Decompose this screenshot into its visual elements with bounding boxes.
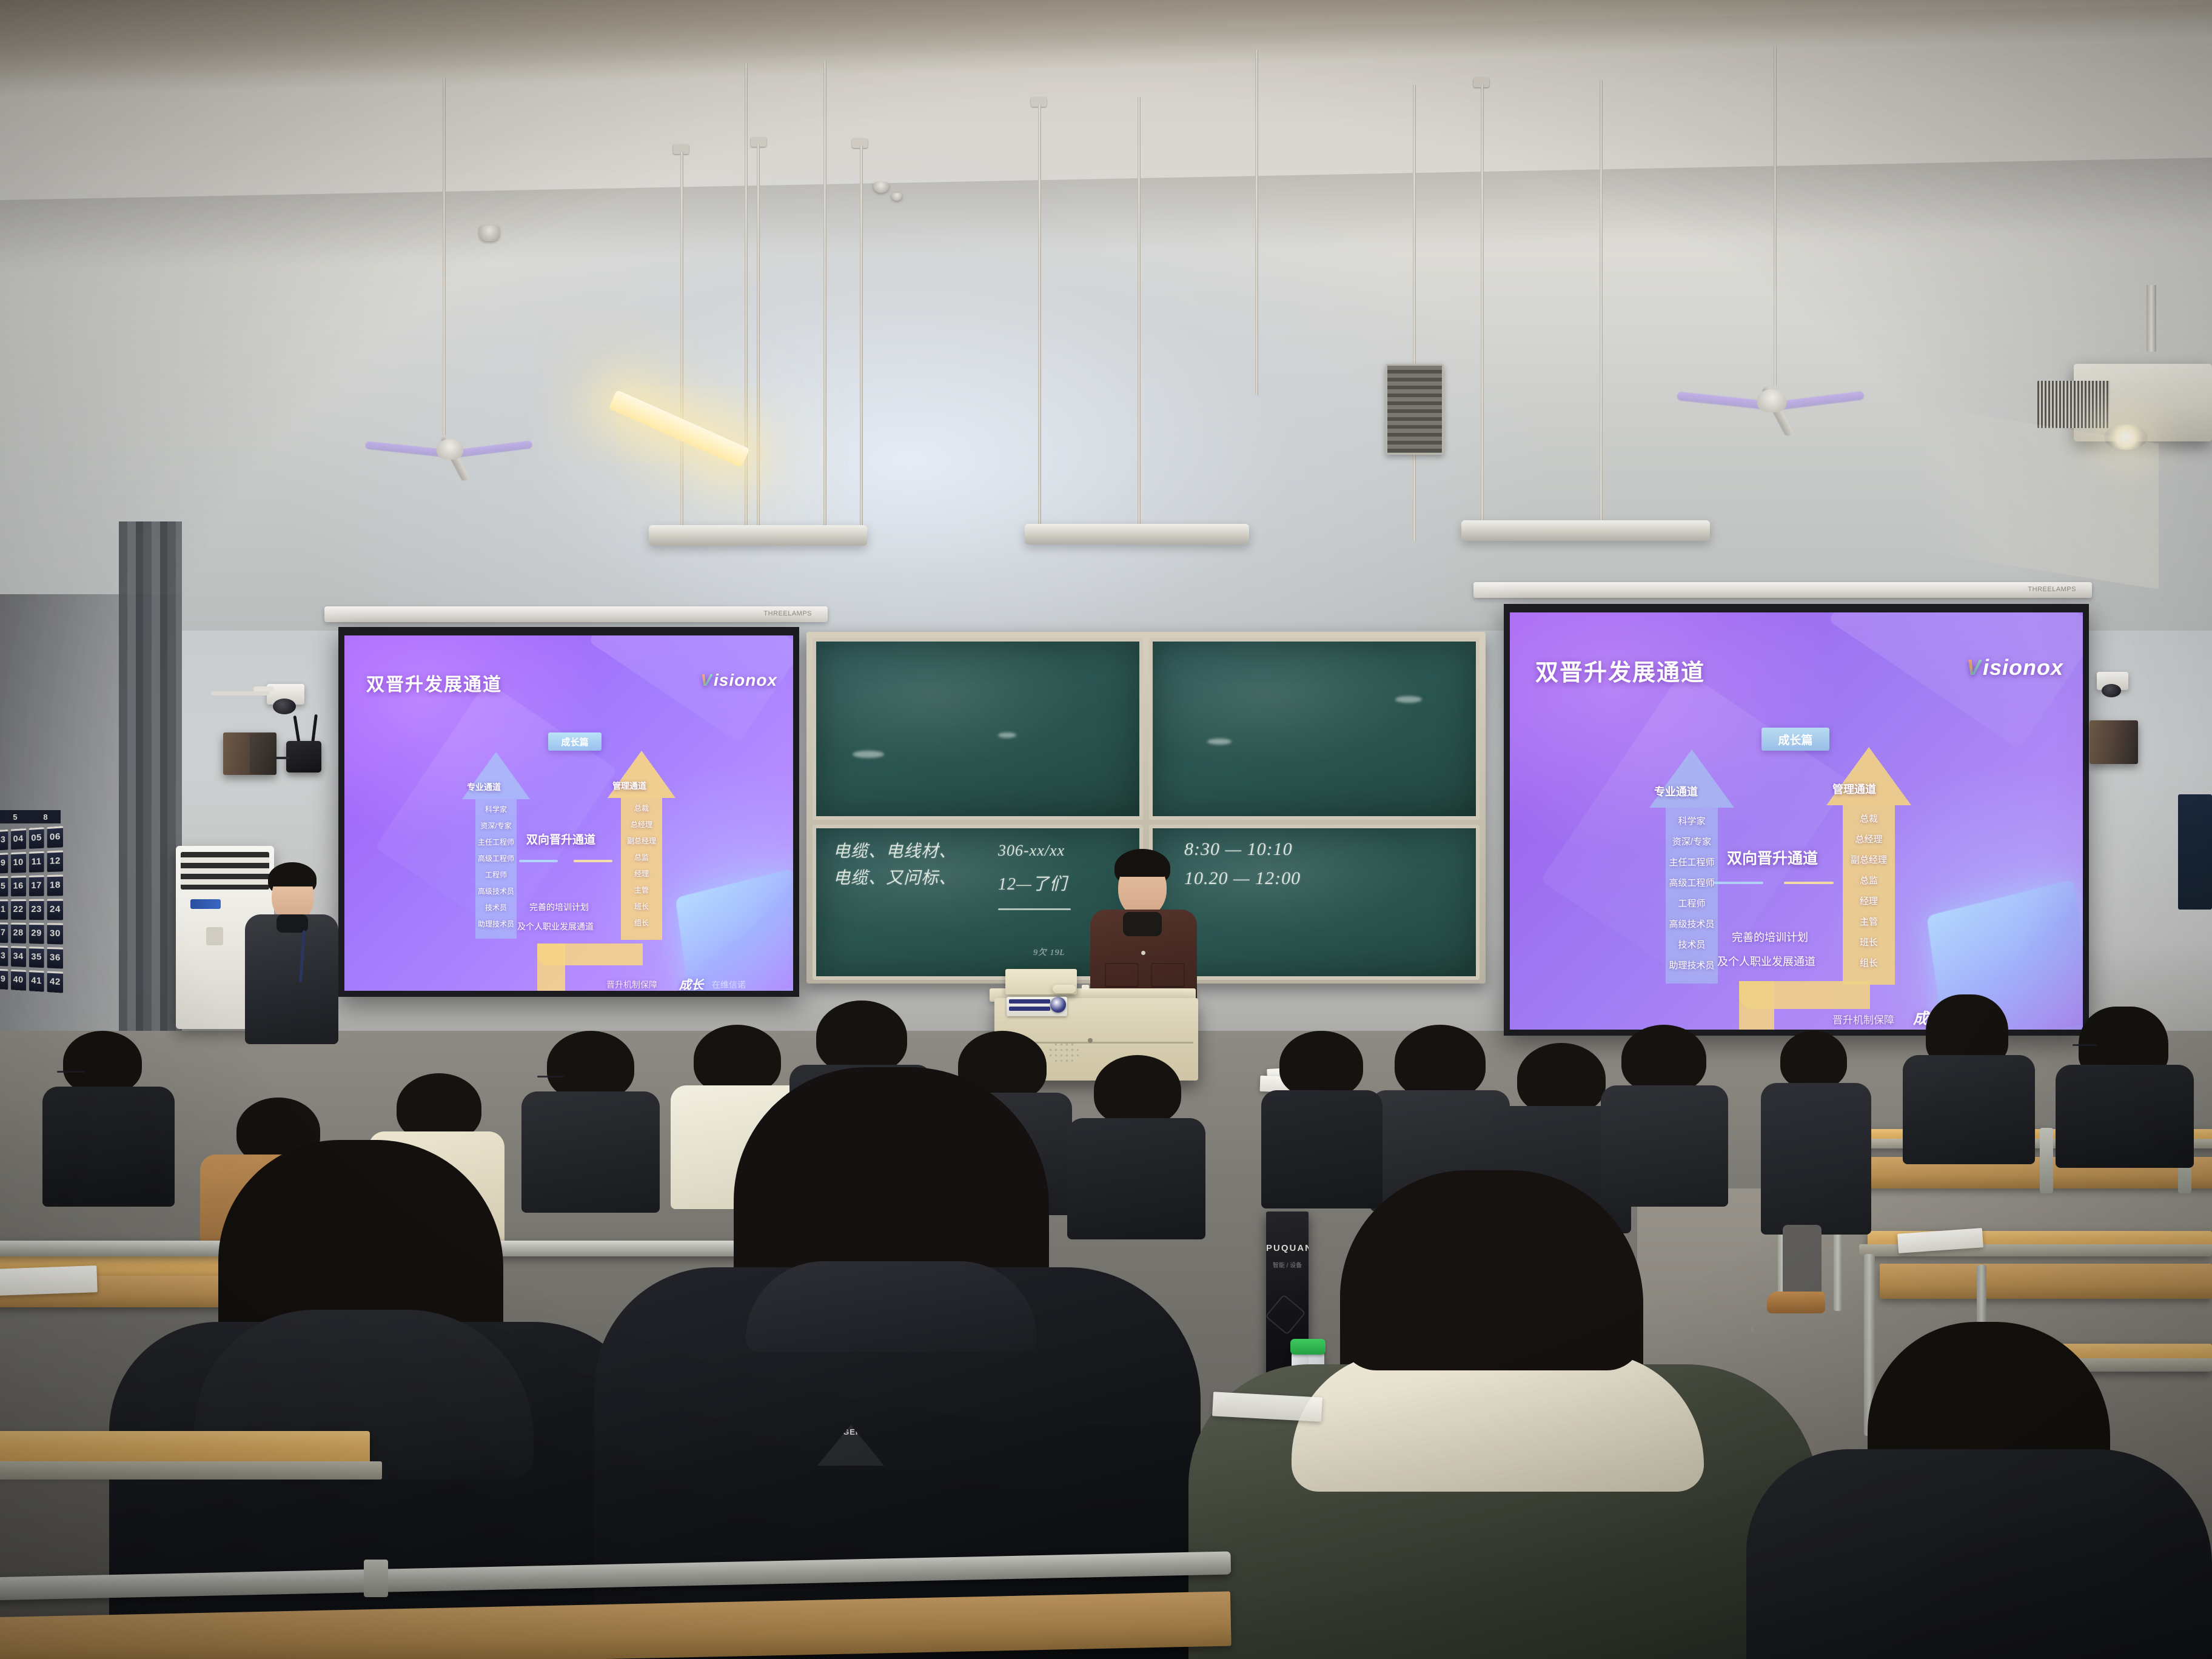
track-rung: 经理: [1860, 891, 1878, 912]
growth-chapter-badge: 成长篇: [1761, 728, 1829, 751]
light-rod: [823, 61, 826, 540]
pocket-slot: 28: [11, 923, 26, 943]
audience-hair: [816, 1000, 907, 1073]
screen-brand-label: THREELAMPS: [763, 610, 812, 617]
track-rung: 主管: [1860, 912, 1878, 933]
pocket-slot: 22: [11, 899, 26, 920]
audience-right-b: [2056, 1007, 2195, 1158]
professional-track-label: 专业通道: [1654, 783, 1698, 799]
training-plan-line-2: 及个人职业发展通道: [1717, 953, 1815, 969]
track-rung: 资深/专家: [480, 818, 511, 834]
track-rung: 工程师: [1678, 894, 1705, 914]
logo-v-letter: V: [700, 671, 712, 690]
staff-member-standing-left: [243, 862, 340, 1044]
left-screen-surface: 双晋升发展通道 Visionox 成长篇 科学家 资深/专家 主任工程师 高级工…: [344, 635, 793, 991]
arrow-body-yellow: 总裁 总经理 副总经理 总监 经理 主管 班长 组长: [1843, 805, 1895, 985]
slide-left: 双晋升发展通道 Visionox 成长篇 科学家 资深/专家 主任工程师 高级工…: [344, 635, 793, 991]
management-track-label: 管理通道: [612, 780, 646, 792]
track-rung: 高级技术员: [1669, 914, 1714, 935]
podium-knob: [1088, 1038, 1093, 1043]
light-rod: [1138, 97, 1141, 528]
left-projection-screen[interactable]: 双晋升发展通道 Visionox 成长篇 科学家 资深/专家 主任工程师 高级工…: [338, 627, 799, 997]
pocket-slot: 09: [0, 853, 8, 873]
pocket-slot: 18: [47, 874, 63, 896]
track-rung: 总监: [1860, 871, 1878, 891]
track-rung: 组长: [634, 915, 649, 931]
track-rung: 助理技术员: [478, 916, 514, 933]
track-rung: 总经理: [631, 817, 652, 833]
audience-hair: [1780, 1031, 1847, 1089]
right-screen-housing[interactable]: THREELAMPS: [1473, 582, 2092, 598]
pocket-slot: 03: [0, 829, 8, 851]
camera-dome: [273, 699, 296, 714]
foreground-student-far-right: [1746, 1322, 2212, 1659]
training-plan-line-1: 完善的培训计划: [1732, 929, 1808, 945]
conduit: [211, 691, 269, 695]
bench-backrest: [1880, 1264, 2212, 1299]
right-wall-camera: [2097, 672, 2128, 690]
audience-hair: [1926, 994, 2008, 1065]
blackboard-schedule-line-2: 10.20 — 12:00: [1184, 868, 1301, 889]
pocket-slot: 15: [0, 876, 8, 897]
track-rung: 副总经理: [1851, 850, 1887, 871]
presenter-collar: [1123, 912, 1162, 936]
desk-paper-sheet: [0, 1265, 98, 1296]
left-screen-housing[interactable]: THREELAMPS: [324, 606, 828, 622]
ceiling-fan-left: [370, 428, 528, 471]
dual-track-heading: 双向晋升通道: [526, 831, 595, 847]
audience-hair: [1395, 1025, 1486, 1099]
training-plan-line-2: 及个人职业发展通道: [517, 920, 594, 933]
visionox-logo: Visionox: [700, 671, 777, 690]
track-rung: 班长: [1860, 933, 1878, 953]
ceiling-fan-right: [1682, 377, 1858, 424]
chalk-smudge: [998, 732, 1016, 738]
track-rung: 主管: [634, 882, 649, 899]
pocket-slot: 05: [28, 827, 44, 849]
wireless-access-point: [286, 741, 321, 773]
camera-dome: [2102, 684, 2121, 697]
eyeglasses-icon: [57, 1071, 85, 1073]
audience-jacket: [2056, 1065, 2194, 1168]
blackboard-room-code: 306-xx/xx: [998, 842, 1065, 860]
air-conditioner-display: [206, 927, 223, 945]
staff-hair-front: [269, 868, 317, 886]
light-rod: [757, 144, 760, 540]
pocket-slot: 27: [0, 922, 8, 943]
slide-footer-lead: 晋升机制保障: [1832, 1011, 1894, 1027]
pocket-slot: 23: [28, 899, 44, 920]
pocket-slot: 21: [0, 899, 8, 919]
management-track-label: 管理通道: [1832, 781, 1876, 797]
speaker-face: [250, 734, 276, 774]
fan-blade: [1677, 392, 1764, 409]
screen-brand-label: THREELAMPS: [2028, 586, 2076, 593]
fluorescent-fixture: [649, 525, 867, 546]
podium-control-dial[interactable]: [1050, 997, 1066, 1013]
upper-wall: [0, 0, 2212, 643]
presenter-pocket: [1105, 963, 1139, 987]
audience-hair: [63, 1031, 142, 1094]
pocket-slot: 06: [47, 826, 63, 848]
slide-device-artwork: [675, 868, 793, 991]
track-rung: 科学家: [485, 802, 507, 818]
blackboard-note-line-2: 电缆、又问标、: [833, 865, 956, 889]
pocket-slot: 11: [28, 851, 44, 873]
center-line-yellow: [1784, 882, 1834, 884]
pocket-slot: 04: [11, 828, 26, 850]
right-wall-board-edge: [2178, 794, 2212, 910]
light-rod: [860, 146, 863, 540]
center-line-blue: [1714, 882, 1763, 884]
pendant-rod: [1255, 50, 1258, 395]
fan-blade: [365, 441, 443, 457]
track-rung: 技术员: [1678, 935, 1705, 956]
bench-clamp: [2040, 1128, 2053, 1193]
light-rod: [1038, 104, 1041, 528]
pocket-header-right: 8: [43, 813, 47, 822]
track-rung: 高级工程师: [1669, 873, 1714, 894]
pocket-organizer-header: 5 8: [0, 810, 61, 823]
projector-vent: [2037, 381, 2110, 428]
bench-clamp: [364, 1560, 388, 1597]
track-rung: 班长: [634, 899, 649, 915]
track-rung: 总经理: [1855, 829, 1882, 850]
control-panel-stripe: [1009, 999, 1050, 1004]
pocket-slot: 42: [47, 971, 63, 993]
chalk-smudge: [1207, 739, 1232, 745]
track-rung: 组长: [1860, 953, 1878, 974]
fluorescent-fixture: [1025, 524, 1249, 545]
slide-title: 双晋升发展通道: [366, 669, 502, 696]
track-rung: 主任工程师: [478, 834, 514, 851]
blackboard-upper-row: [813, 638, 1480, 820]
pocket-slot: 33: [0, 945, 8, 966]
growth-chapter-badge: 成长篇: [548, 732, 602, 751]
fan-blade: [456, 440, 533, 457]
track-rung: 高级技术员: [478, 883, 514, 900]
air-conditioner-badge: [190, 899, 221, 909]
podium-mouse-tray: [1053, 985, 1076, 993]
presenter-button: [1141, 951, 1145, 955]
smoke-detector-icon: [479, 226, 500, 241]
center-line-yellow: [574, 860, 612, 862]
pocket-slot: 24: [47, 899, 63, 920]
light-rod: [1481, 85, 1484, 541]
pocket-slot: 12: [47, 850, 63, 872]
logo-wordmark: isionox: [714, 671, 777, 690]
pocket-slot: 36: [47, 947, 63, 969]
track-rung: 高级工程师: [478, 851, 514, 867]
audience-jacket: [1903, 1055, 2035, 1164]
pocket-slot: 35: [28, 947, 44, 968]
slide-footer-emphasis: 成长: [679, 975, 703, 991]
desk-frame-edge: [0, 1461, 382, 1480]
track-rung: 助理技术员: [1669, 956, 1714, 976]
pocket-header-left: 5: [13, 813, 17, 822]
audience-hair: [1279, 1031, 1363, 1098]
control-panel-stripe: [1009, 1007, 1050, 1011]
track-rung: 资深/专家: [1672, 832, 1711, 853]
track-rung: 总裁: [634, 800, 649, 817]
logo-v-letter: V: [1966, 655, 1982, 680]
blackboard-signature: 9欠 19L: [1033, 946, 1065, 958]
chalk-smudge: [853, 751, 884, 758]
pocket-slot: 30: [47, 923, 63, 944]
arrow-body-blue: 科学家 资深/专家 主任工程师 高级工程师 工程师 高级技术员 技术员 助理技术…: [475, 799, 517, 939]
foreground-fleece-collar: [1292, 1352, 1704, 1492]
slide-right: 双晋升发展通道 Visionox 成长篇 科学家 资深/专家 主任工程师 高级工…: [1510, 612, 2083, 1030]
right-screen-surface: 双晋升发展通道 Visionox 成长篇 科学家 资深/专家 主任工程师 高级工…: [1510, 612, 2083, 1030]
window-curtain: [119, 521, 182, 1055]
fan-rod-right: [1774, 46, 1777, 386]
phone-pocket-organizer: 03 04 05 06 09 10 11 12 15 16 17 18 21 2…: [0, 826, 63, 993]
track-rung: 主任工程师: [1669, 853, 1714, 873]
fan-hub: [1757, 389, 1787, 412]
slide-decor-shape: [1828, 612, 2083, 749]
pocket-slot: 16: [11, 876, 26, 896]
audience-hair: [1621, 1025, 1706, 1093]
right-projection-screen[interactable]: 双晋升发展通道 Visionox 成长篇 科学家 资深/专家 主任工程师 高级工…: [1504, 604, 2089, 1036]
logo-wordmark: isionox: [1983, 655, 2063, 680]
training-plan-line-1: 完善的培训计划: [529, 901, 589, 913]
track-rung: 经理: [634, 866, 649, 882]
right-wall-speaker: [2090, 720, 2138, 764]
arrow-body-blue: 科学家 资深/专家 主任工程师 高级工程师 工程师 高级技术员 技术员 助理技术…: [1666, 808, 1718, 984]
track-rung: 工程师: [485, 867, 507, 883]
dual-track-heading: 双向晋升通道: [1727, 846, 1818, 868]
eyeglasses-icon: [2073, 1044, 2097, 1046]
blackboard-note-line-1: 电缆、电线材、: [833, 838, 956, 862]
management-track-foot-stub: [1739, 981, 1774, 1030]
track-rung: 总监: [634, 850, 649, 866]
pocket-slot: 17: [28, 875, 44, 896]
eyeglasses-icon: [537, 1076, 564, 1078]
track-rung: 科学家: [1678, 811, 1705, 832]
blackboard-underline: [998, 908, 1071, 910]
foreground-collar: [746, 1261, 1037, 1352]
light-rod: [745, 63, 748, 540]
projector-ceiling-mount: [2147, 285, 2156, 352]
slide-title: 双晋升发展通道: [1535, 654, 1705, 687]
blackboard-code-sub: 12—了们: [998, 871, 1067, 895]
light-rod: [680, 152, 683, 540]
fan-rod-left: [443, 78, 446, 435]
audience-hair: [1517, 1043, 1606, 1114]
light-rod: [1413, 85, 1416, 541]
chalk-smudge: [1395, 696, 1422, 703]
lecture-hall-photo: THREELAMPS 双晋升发展通道 Visionox 成长篇 科学家 资: [0, 0, 2212, 1659]
ap-cable: [274, 757, 290, 759]
center-line-blue: [519, 860, 558, 862]
light-rod: [1600, 80, 1603, 540]
foreground-jacket: [1746, 1449, 2212, 1659]
track-rung: 总裁: [1860, 809, 1878, 829]
presenter-hair-front: [1116, 856, 1169, 877]
management-track-arrow: 总裁 总经理 副总经理 总监 经理 主管 班长 组长: [608, 751, 675, 940]
blackboard-panel-upper-left: [813, 638, 1143, 820]
slide-footer-lead: 晋升机制保障: [606, 979, 657, 991]
professional-track-label: 专业通道: [467, 781, 501, 793]
pocket-slot: 41: [28, 970, 44, 992]
fan-blade: [1778, 391, 1865, 411]
presenter-pocket: [1151, 963, 1185, 987]
management-track-foot-stub: [537, 943, 565, 991]
pocket-slot: 10: [11, 852, 26, 873]
audience-right-a: [1899, 994, 2039, 1158]
visionox-logo: Visionox: [1966, 655, 2063, 680]
foreground-hair-over: [1340, 1170, 1643, 1370]
pocket-slot: 34: [11, 946, 26, 967]
professional-track-arrow: 科学家 资深/专家 主任工程师 高级工程师 工程师 高级技术员 技术员 助理技术…: [462, 752, 530, 939]
pocket-slot: 29: [28, 923, 44, 944]
pocket-slot: 40: [11, 970, 26, 991]
fan-hub: [437, 439, 463, 460]
blackboard-panel-upper-right: [1149, 638, 1480, 820]
slide-footer-tail: 在维信诺: [712, 979, 746, 991]
chalk-piece: [1082, 985, 1089, 990]
fluorescent-fixture: [1461, 520, 1710, 541]
ceiling-speaker-grille: [1386, 364, 1444, 455]
arrow-body-yellow: 总裁 总经理 副总经理 总监 经理 主管 班长 组长: [621, 798, 662, 940]
track-rung: 副总经理: [627, 833, 656, 850]
staff-jacket: [245, 914, 338, 1044]
track-rung: 技术员: [485, 900, 507, 916]
pocket-slot: 39: [0, 968, 8, 990]
